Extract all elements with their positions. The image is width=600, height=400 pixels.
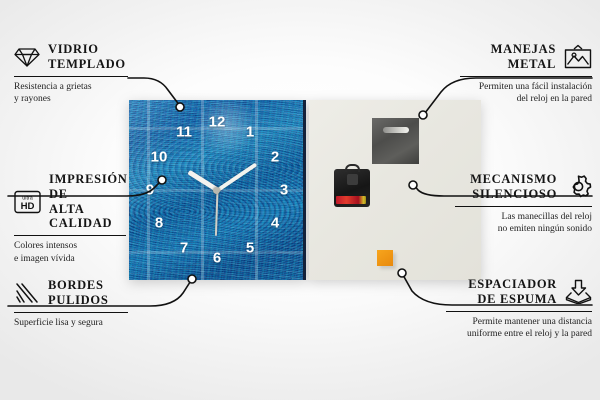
- svg-text:HD: HD: [21, 201, 35, 212]
- clock-numeral: 6: [213, 251, 221, 266]
- clock-numeral: 10: [151, 150, 168, 165]
- callout-subtitle: Permiten una fácil instalación del reloj…: [460, 81, 592, 106]
- diamond-icon: [14, 46, 40, 68]
- ultra-hd-icon: ultra HD: [14, 190, 41, 214]
- callout-rule: [446, 311, 592, 312]
- clock-numeral: 1: [246, 125, 254, 140]
- quartz-mechanism: [334, 169, 370, 207]
- clock-numeral: 8: [155, 216, 163, 231]
- product-photo: 12 1 2 3 4 5 6 7 8 9 10 11: [129, 100, 481, 280]
- clock-center-cap: [213, 187, 220, 194]
- callout-espaciador-de-espuma[interactable]: ESPACIADOR DE ESPUMA Permite mantener un…: [446, 277, 592, 341]
- mechanism-loop: [345, 164, 360, 172]
- callout-header: MANEJAS METAL: [460, 42, 592, 72]
- clock-numeral: 2: [271, 150, 279, 165]
- clock-numeral: 4: [271, 216, 279, 231]
- callout-header: ultra HD IMPRESIÓN DE ALTA CALIDAD: [14, 172, 126, 231]
- foam-spacer-icon: [565, 279, 592, 304]
- clock-numeral: 3: [280, 183, 288, 198]
- battery: [336, 196, 366, 204]
- callout-title: MECANISMO SILENCIOSO: [470, 172, 557, 202]
- callout-subtitle: Resistencia a grietas y rayones: [14, 81, 128, 106]
- callout-subtitle: Superficie lisa y segura: [14, 317, 128, 330]
- callout-bordes-pulidos[interactable]: BORDES PULIDOS Superficie lisa y segura: [14, 278, 128, 329]
- callout-title: IMPRESIÓN DE ALTA CALIDAD: [49, 172, 128, 231]
- hanger-slot: [383, 127, 409, 133]
- callout-title: ESPACIADOR DE ESPUMA: [468, 277, 557, 307]
- callout-rule: [14, 312, 128, 313]
- mechanism-shaft: [347, 174, 358, 185]
- clock-numeral: 9: [146, 183, 154, 198]
- callout-title: VIDRIO TEMPLADO: [48, 42, 126, 72]
- callout-impresion-alta-calidad[interactable]: ultra HD IMPRESIÓN DE ALTA CALIDAD Color…: [14, 172, 126, 265]
- picture-hanger-icon: [564, 44, 592, 69]
- callout-rule: [460, 76, 592, 77]
- callout-header: BORDES PULIDOS: [14, 278, 128, 308]
- clock-numeral: 12: [209, 115, 226, 130]
- clock-numeral: 7: [180, 241, 188, 256]
- clock-front-panel: 12 1 2 3 4 5 6 7 8 9 10 11: [129, 100, 306, 280]
- second-hand: [215, 190, 218, 236]
- callout-subtitle: Permite mantener una distancia uniforme …: [446, 316, 592, 341]
- callout-title: MANEJAS METAL: [491, 42, 556, 72]
- callout-mecanismo-silencioso[interactable]: MECANISMO SILENCIOSO Las manecillas del …: [455, 172, 592, 236]
- gear-icon: [565, 174, 592, 199]
- polished-edges-icon: [14, 282, 40, 304]
- callout-title: BORDES PULIDOS: [48, 278, 108, 308]
- foam-spacer: [377, 250, 393, 266]
- callout-vidrio-templado[interactable]: VIDRIO TEMPLADO Resistencia a grietas y …: [14, 42, 128, 106]
- clock-numeral: 11: [176, 125, 192, 140]
- callout-header: VIDRIO TEMPLADO: [14, 42, 128, 72]
- metal-hanger-plate: [372, 118, 419, 164]
- callout-rule: [14, 235, 126, 236]
- callout-header: ESPACIADOR DE ESPUMA: [446, 277, 592, 307]
- clock-numeral: 5: [246, 241, 254, 256]
- callout-subtitle: Las manecillas del reloj no emiten ningú…: [455, 211, 592, 236]
- callout-rule: [14, 76, 128, 77]
- callout-subtitle: Colores intensos e imagen vívida: [14, 240, 126, 265]
- infographic-canvas: 12 1 2 3 4 5 6 7 8 9 10 11: [0, 0, 600, 400]
- callout-manejas-metal[interactable]: MANEJAS METAL Permiten una fácil instala…: [460, 42, 592, 106]
- callout-rule: [455, 206, 592, 207]
- callout-header: MECANISMO SILENCIOSO: [455, 172, 592, 202]
- minute-hand: [216, 163, 256, 192]
